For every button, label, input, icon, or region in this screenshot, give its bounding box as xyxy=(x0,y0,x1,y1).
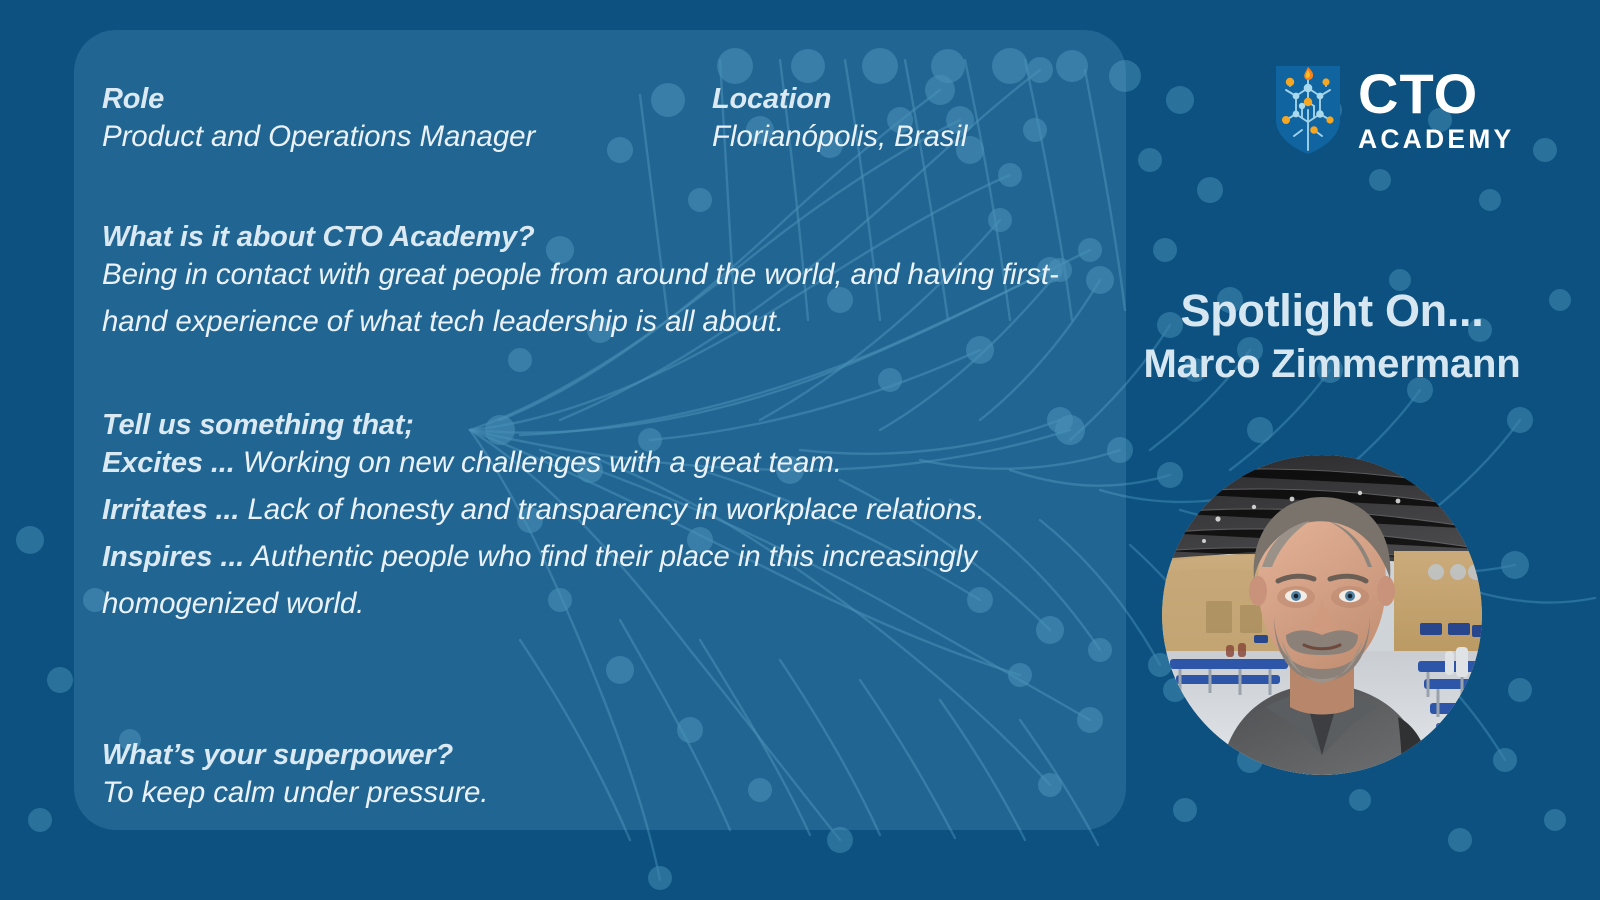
superpower-question: What’s your superpower? xyxy=(102,740,1102,770)
role-value: Product and Operations Manager xyxy=(102,114,535,161)
spotlight-person-name: Marco Zimmermann xyxy=(1132,341,1532,388)
tell-us-item-label: Excites ... xyxy=(102,447,235,479)
tell-us-item: Irritates ... Lack of honesty and transp… xyxy=(102,487,1102,534)
tell-us-item: Excites ... Working on new challenges wi… xyxy=(102,440,1102,487)
about-block: What is it about CTO Academy? Being in c… xyxy=(102,222,1102,345)
about-question: What is it about CTO Academy? xyxy=(102,222,1102,252)
logo-primary-text: CTO xyxy=(1358,66,1478,122)
tell-us-item-answer: Working on new challenges with a great t… xyxy=(243,446,842,479)
tell-us-block: Tell us something that; Excites ... Work… xyxy=(102,410,1102,627)
tell-us-item: Inspires ... Authentic people who find t… xyxy=(102,534,1102,627)
logo-wordmark: CTO ACADEMY xyxy=(1358,66,1514,153)
location-block: Location Florianópolis, Brasil xyxy=(712,84,967,161)
role-block: Role Product and Operations Manager xyxy=(102,84,535,161)
location-label: Location xyxy=(712,84,967,114)
profile-info-card: Role Product and Operations Manager Loca… xyxy=(74,30,1126,830)
spotlight-heading: Spotlight On... xyxy=(1132,288,1532,334)
profile-photo-airport-terminal xyxy=(1162,455,1482,775)
about-answer: Being in contact with great people from … xyxy=(102,252,1102,345)
tell-us-item-answer: Lack of honesty and transparency in work… xyxy=(247,493,984,526)
role-label: Role xyxy=(102,84,535,114)
superpower-answer: To keep calm under pressure. xyxy=(102,770,1102,817)
tell-us-question: Tell us something that; xyxy=(102,410,1102,440)
cto-academy-shield-circuit-icon xyxy=(1272,62,1344,156)
logo-secondary-text: ACADEMY xyxy=(1358,126,1514,153)
superpower-block: What’s your superpower? To keep calm und… xyxy=(102,740,1102,817)
tell-us-item-label: Inspires ... xyxy=(102,541,244,573)
tell-us-item-label: Irritates ... xyxy=(102,494,239,526)
location-value: Florianópolis, Brasil xyxy=(712,114,967,161)
card-content: Role Product and Operations Manager Loca… xyxy=(74,30,1126,830)
avatar xyxy=(1162,455,1482,775)
cto-academy-logo[interactable]: CTO ACADEMY xyxy=(1272,57,1524,161)
spotlight-graphic: Role Product and Operations Manager Loca… xyxy=(0,0,1600,900)
